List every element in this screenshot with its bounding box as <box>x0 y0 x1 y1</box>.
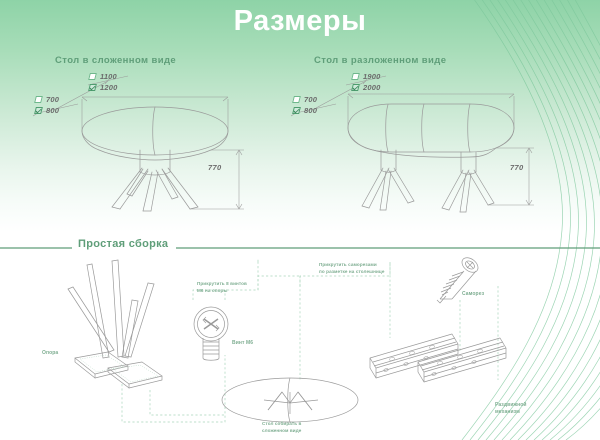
note-bolt: Прикрутить 8 винтов М6 на опоры <box>197 281 247 294</box>
label-leg: Опора <box>42 350 58 357</box>
label-mechanism: Раздвижной механизм <box>495 402 527 417</box>
label-screw: Саморез <box>462 291 484 298</box>
label-bolt: Винт М6 <box>232 340 253 347</box>
note-fold: Стол собирать в сложенном виде <box>262 421 301 434</box>
instruction-page: Размеры Стол в сложенном виде Стол в раз… <box>0 0 600 440</box>
assembly-drawing <box>0 0 600 440</box>
note-screw: Прикрутить саморезами по разметке на сто… <box>319 262 384 275</box>
